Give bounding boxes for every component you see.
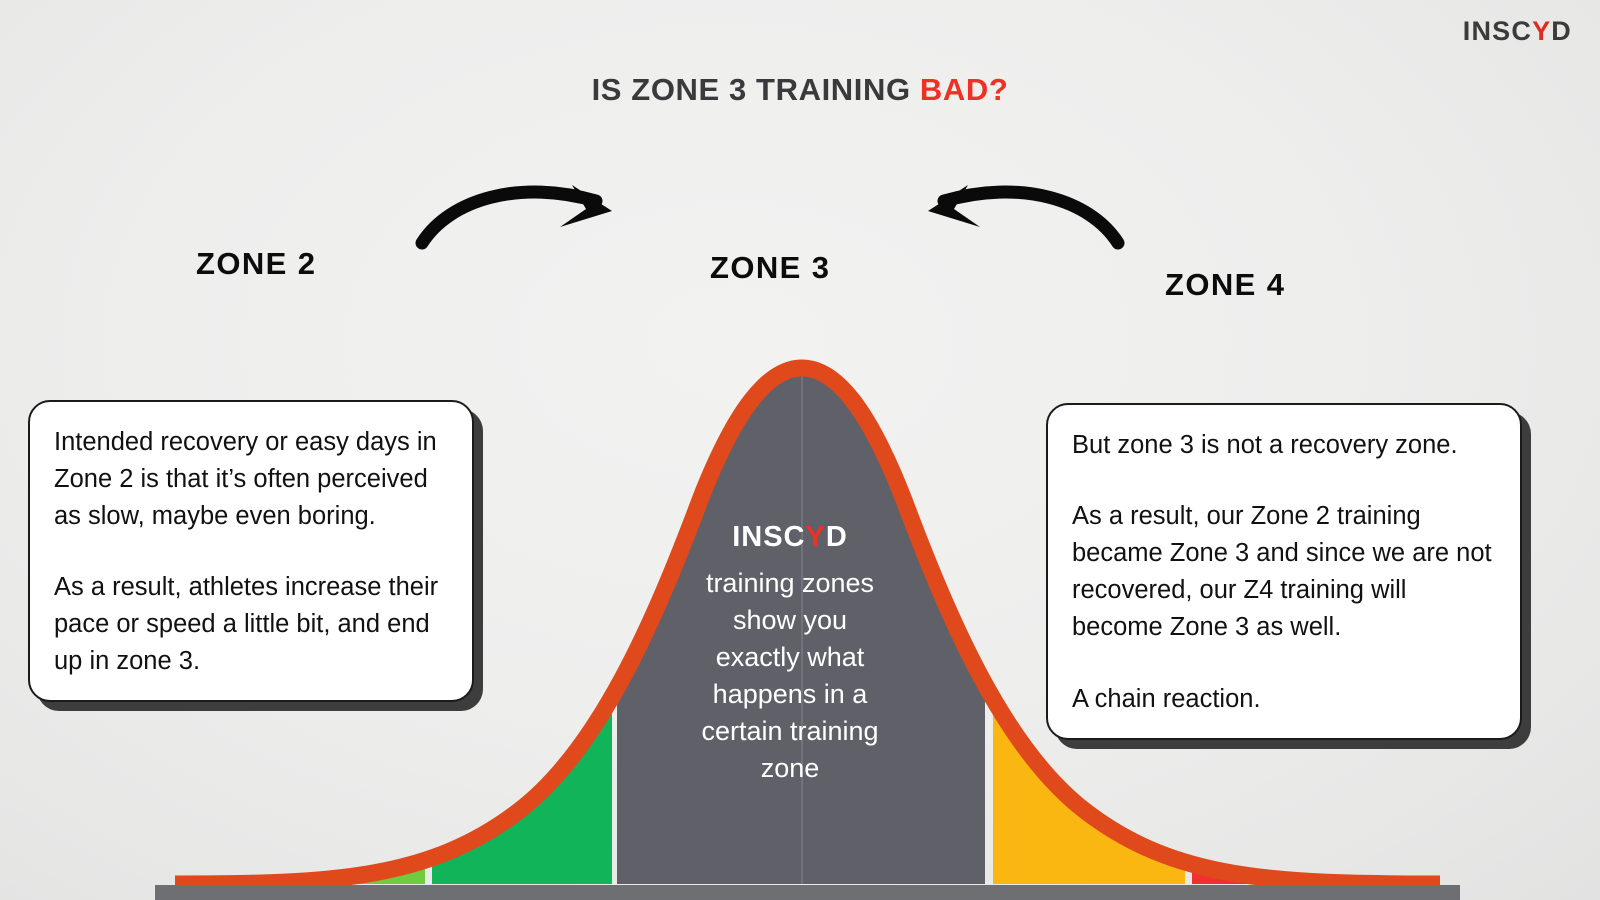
zone-label-zone4: ZONE 4 [1165, 267, 1285, 303]
zone-label-zone3: ZONE 3 [710, 250, 830, 286]
card-right-paragraph-3: A chain reaction. [1072, 681, 1496, 718]
infographic-canvas: INSCYD IS ZONE 3 TRAINING BAD? [0, 0, 1600, 900]
card-right-paragraph-2: As a result, our Zone 2 training became … [1072, 498, 1496, 646]
card-right-paragraph-1: But zone 3 is not a recovery zone. [1072, 427, 1496, 464]
card-left-paragraph-1: Intended recovery or easy days in Zone 2… [54, 424, 448, 535]
callout-card-right: But zone 3 is not a recovery zone. As a … [1046, 403, 1522, 740]
chart-baseline [155, 885, 1460, 900]
arrow-right-to-zone3 [890, 165, 1140, 260]
curved-arrow-right-icon [400, 165, 650, 255]
arrow-left-to-zone3 [400, 165, 650, 260]
card-left-paragraph-2: As a result, athletes increase their pac… [54, 569, 448, 680]
callout-card-left: Intended recovery or easy days in Zone 2… [28, 400, 474, 702]
curved-arrow-left-icon [890, 165, 1140, 255]
zone-label-zone2: ZONE 2 [196, 246, 316, 282]
